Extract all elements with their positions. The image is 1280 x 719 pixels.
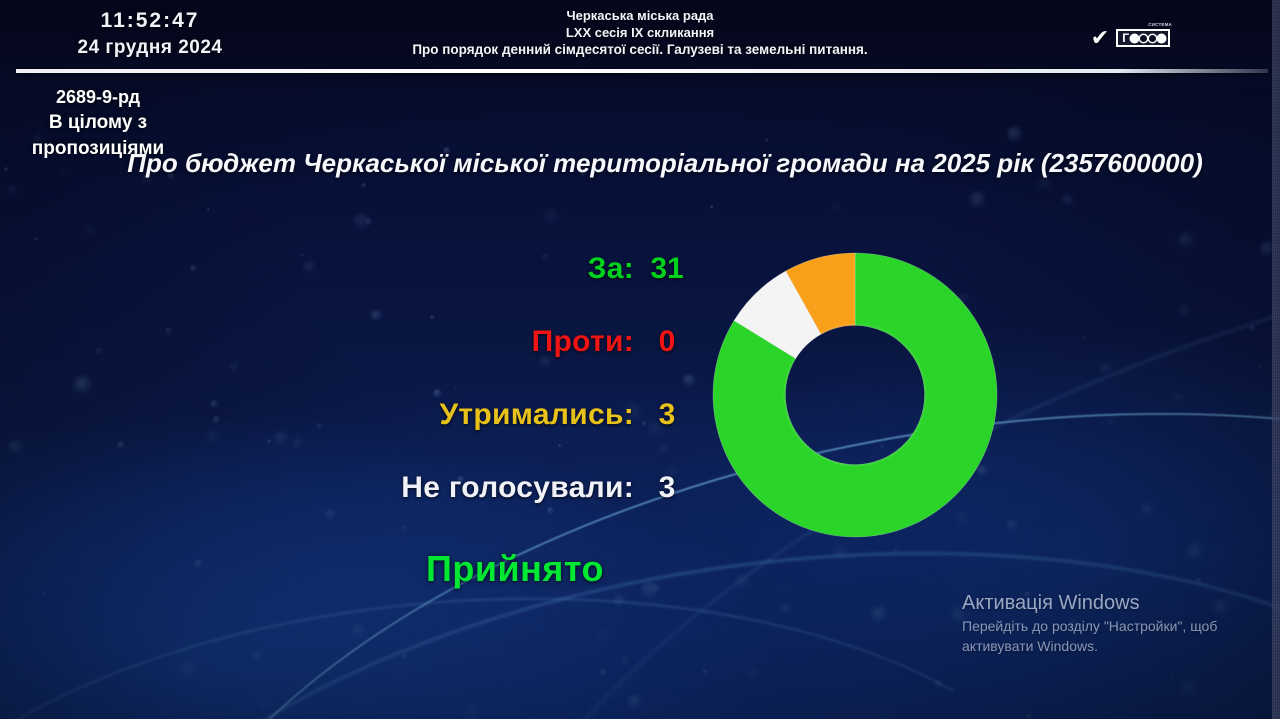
result-label-for: За:: [588, 252, 634, 286]
golos-logo-dot-3: [1149, 35, 1156, 42]
windows-activation-watermark: Активація Windows Перейдіть до розділу "…: [962, 590, 1262, 656]
result-value-against: 0: [634, 325, 700, 359]
result-row-against: Проти: 0: [300, 325, 700, 398]
brand-block: ✔ Г СИСТЕМА: [1091, 27, 1170, 49]
council-heading: Черкаська міська рада LXX сесія IX склик…: [300, 8, 980, 59]
watermark-line-1: Перейдіть до розділу "Настройки", щоб: [962, 617, 1262, 636]
result-row-not-voted: Не голосували: 3: [300, 471, 700, 544]
current-date: 24 грудня 2024: [0, 35, 300, 60]
voting-results-screen: 11:52:47 24 грудня 2024 Черкаська міська…: [0, 0, 1280, 719]
session-name: LXX сесія IX скликання: [300, 24, 980, 41]
results-list: За: 31 Проти: 0 Утримались: 3 Не голосув…: [300, 252, 700, 544]
page-title: Про бюджет Черкаської міської територіал…: [120, 146, 1210, 180]
header-divider: [16, 69, 1268, 73]
result-row-for: За: 31: [300, 252, 700, 325]
right-edge-artifact: [1272, 0, 1280, 719]
verdict-text: Прийнято: [300, 548, 730, 590]
current-time: 11:52:47: [0, 8, 300, 33]
result-value-abstained: 3: [634, 398, 700, 432]
result-label-not-voted: Не голосували:: [401, 471, 634, 505]
result-label-abstained: Утримались:: [439, 398, 634, 432]
golos-logo-dot-2: [1140, 35, 1147, 42]
clock-block: 11:52:47 24 грудня 2024: [0, 8, 300, 60]
checkmark-icon: ✔: [1091, 27, 1109, 49]
golos-logo-box: Г: [1116, 29, 1170, 47]
watermark-title: Активація Windows: [962, 590, 1262, 616]
motion-code: 2689-9-рд: [0, 84, 196, 110]
header: 11:52:47 24 грудня 2024 Черкаська міська…: [0, 0, 1280, 70]
result-value-not-voted: 3: [634, 471, 700, 505]
results-donut-chart: [710, 250, 1000, 540]
donut-svg: [710, 250, 1000, 540]
result-label-against: Проти:: [532, 325, 634, 359]
result-value-for: 31: [634, 252, 700, 286]
donut-slices: [713, 253, 997, 537]
result-row-abstained: Утримались: 3: [300, 398, 700, 471]
golos-logo-tagline: СИСТЕМА: [1148, 22, 1172, 27]
council-name: Черкаська міська рада: [300, 8, 980, 24]
golos-logo-dot-4: [1158, 35, 1165, 42]
golos-logo-letter: Г: [1122, 32, 1129, 44]
watermark-line-2: активувати Windows.: [962, 637, 1262, 656]
golos-logo: Г СИСТЕМА: [1116, 29, 1170, 47]
golos-logo-dot-1: [1131, 35, 1138, 42]
agenda-line: Про порядок денний сімдесятої сесії. Гал…: [300, 41, 980, 59]
